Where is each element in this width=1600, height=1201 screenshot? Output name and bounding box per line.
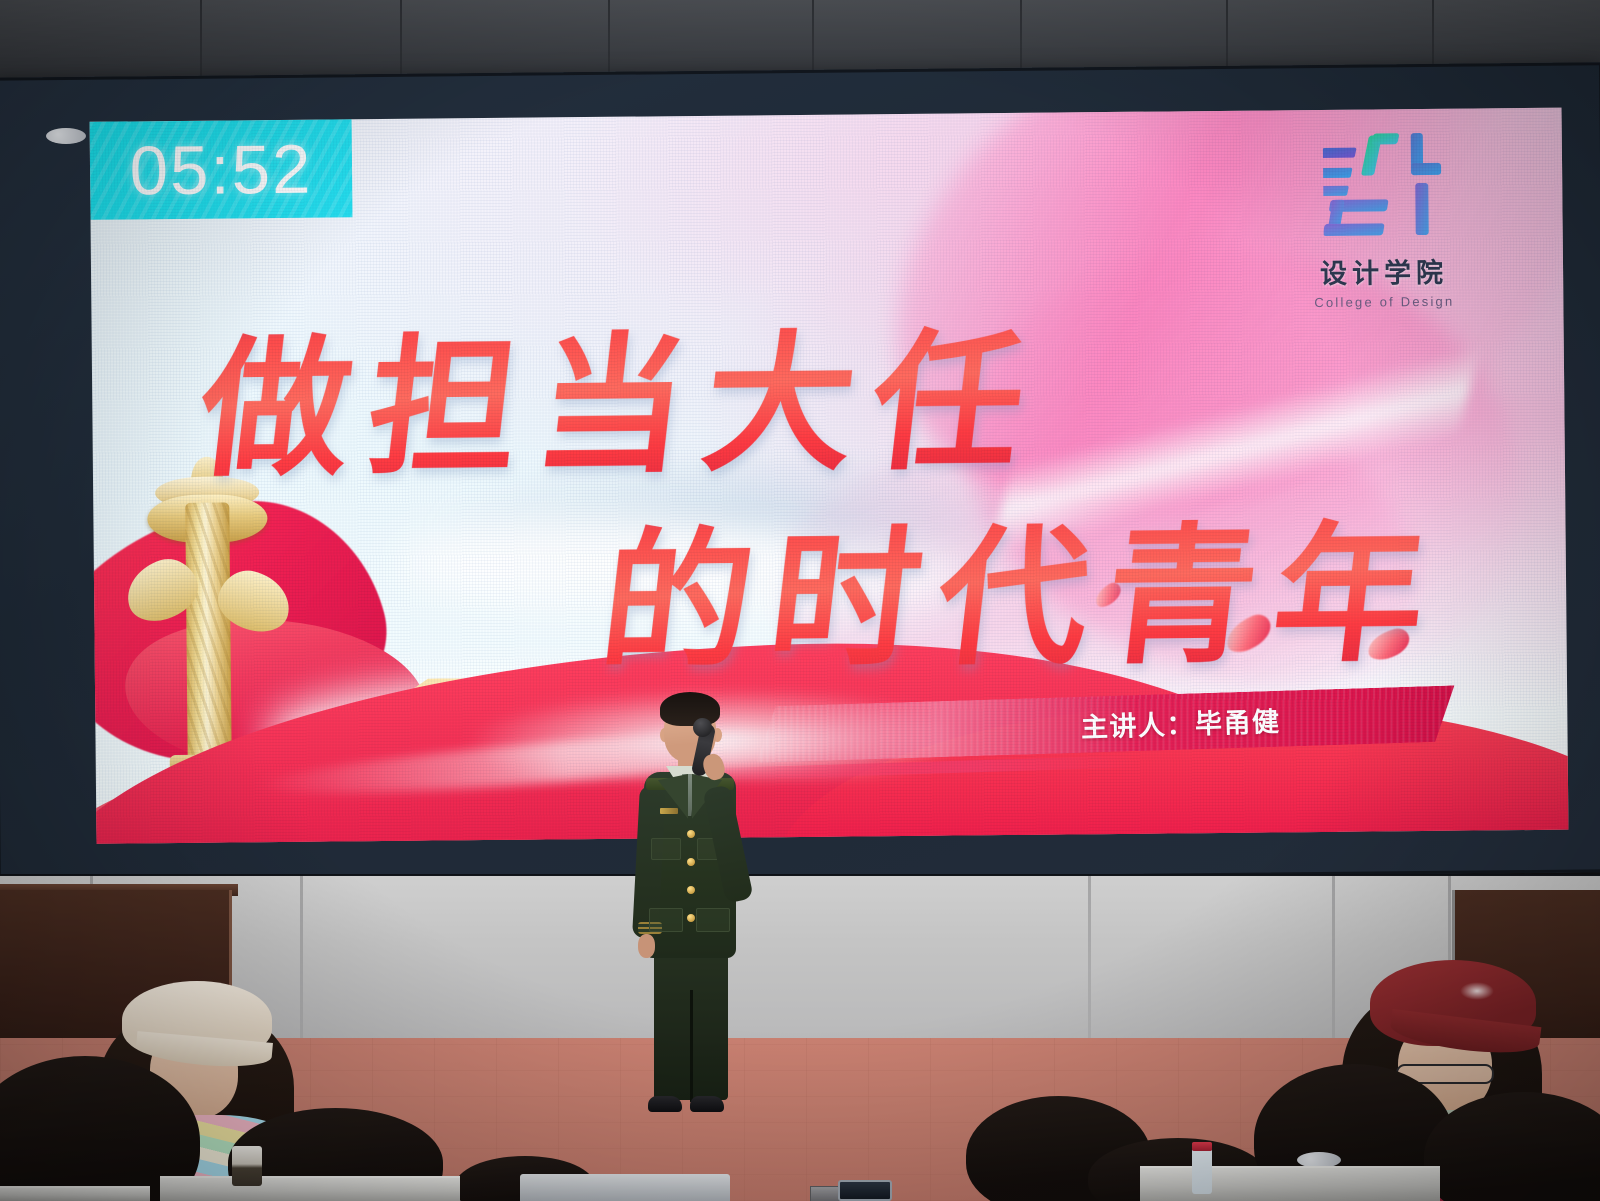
auditorium-scene: 05:52 <box>0 0 1600 1201</box>
audience-table <box>0 1186 150 1201</box>
logo-name-cn: 设计学院 <box>1289 250 1479 291</box>
speaker-banner: 主讲人：毕甬健 <box>755 685 1456 762</box>
audience-table <box>1140 1166 1440 1201</box>
phone <box>838 1180 892 1201</box>
petal-2 <box>1364 626 1413 663</box>
huabiao-column-graphic <box>133 450 286 781</box>
speaker-name: 主讲人：毕甬健 <box>1080 699 1281 744</box>
countdown-timer-badge[interactable]: 05:52 <box>90 119 353 220</box>
cloud-2 <box>614 543 975 616</box>
shoe-right <box>690 1096 724 1112</box>
cloud-1 <box>393 515 814 609</box>
water-bottle <box>1192 1148 1212 1194</box>
led-screen[interactable]: 05:52 <box>0 62 1600 887</box>
college-logo: 设计学院 College of Design <box>1288 126 1480 310</box>
bottle-cap <box>1192 1142 1212 1151</box>
logo-name-en: College of Design <box>1289 293 1479 310</box>
shoe-left <box>648 1096 682 1112</box>
paper-cup <box>232 1146 262 1186</box>
title-line-2: 的时代青年 <box>592 473 1457 698</box>
timer-value: 05:52 <box>129 134 312 205</box>
laptop <box>520 1174 730 1201</box>
mountain-haze <box>423 443 1045 609</box>
audience-table <box>160 1176 460 1201</box>
logo-mark-icon <box>1323 127 1444 246</box>
petal-3 <box>1091 580 1125 610</box>
petal-1 <box>1221 611 1277 657</box>
title-line-1: 做担当大任 <box>190 281 1055 506</box>
hair-clip <box>46 128 86 144</box>
presentation-slide: 05:52 <box>90 108 1569 844</box>
presenter <box>618 690 758 1130</box>
